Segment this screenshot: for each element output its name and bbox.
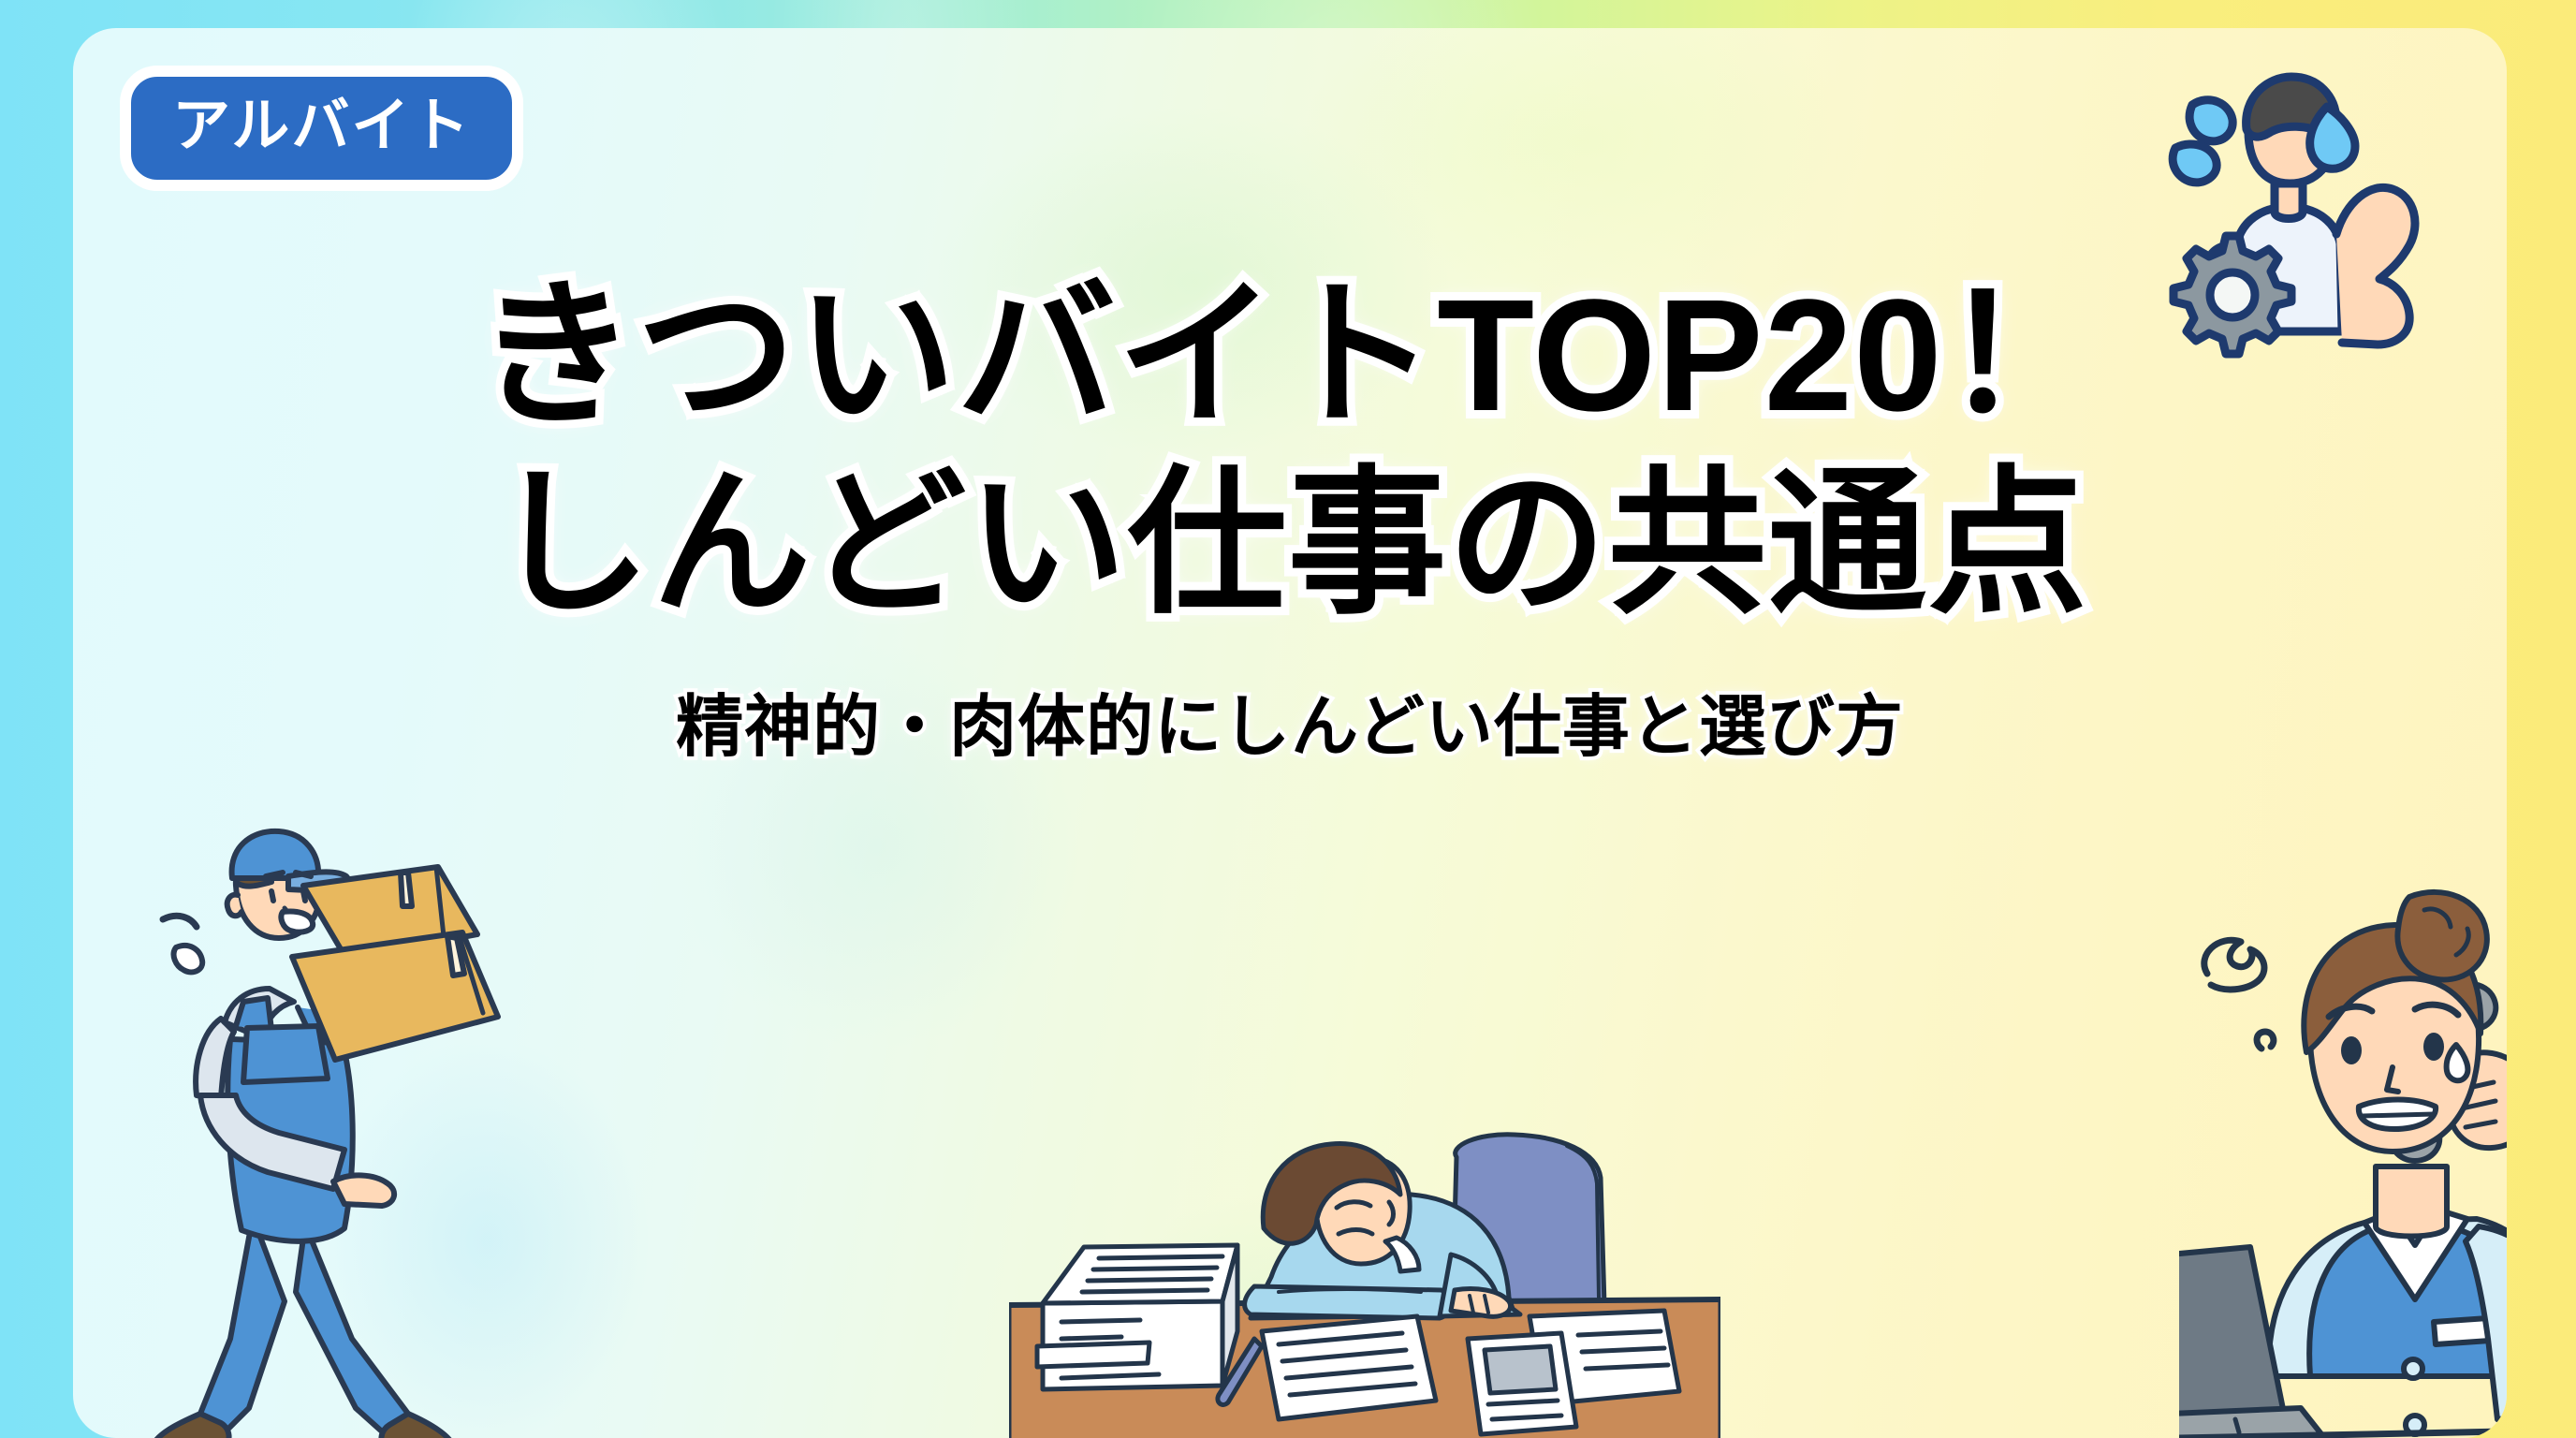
sweating-muscle-person-with-gear-icon [2144,51,2462,369]
title-line-1: きついバイトTOP20！ [73,262,2507,450]
stressed-call-center-woman-illustration [2179,852,2507,1438]
exhausted-office-worker-at-desk-illustration [1009,1105,1720,1438]
title-block: きついバイトTOP20！ しんどい仕事の共通点 精神的・肉体的にしんどい仕事と選… [73,262,2507,770]
delivery-worker-carrying-boxes-illustration [110,814,504,1438]
subtitle: 精神的・肉体的にしんどい仕事と選び方 [73,671,2507,770]
thumbnail-canvas: アルバイト きついバイトTOP20！ しんどい仕事の共通点 精神的・肉体的にしん… [0,0,2576,1438]
title-line-2: しんどい仕事の共通点 [73,450,2507,638]
category-badge[interactable]: アルバイト [120,66,523,191]
content-card: アルバイト きついバイトTOP20！ しんどい仕事の共通点 精神的・肉体的にしん… [73,28,2507,1438]
category-badge-label: アルバイト [172,97,471,155]
